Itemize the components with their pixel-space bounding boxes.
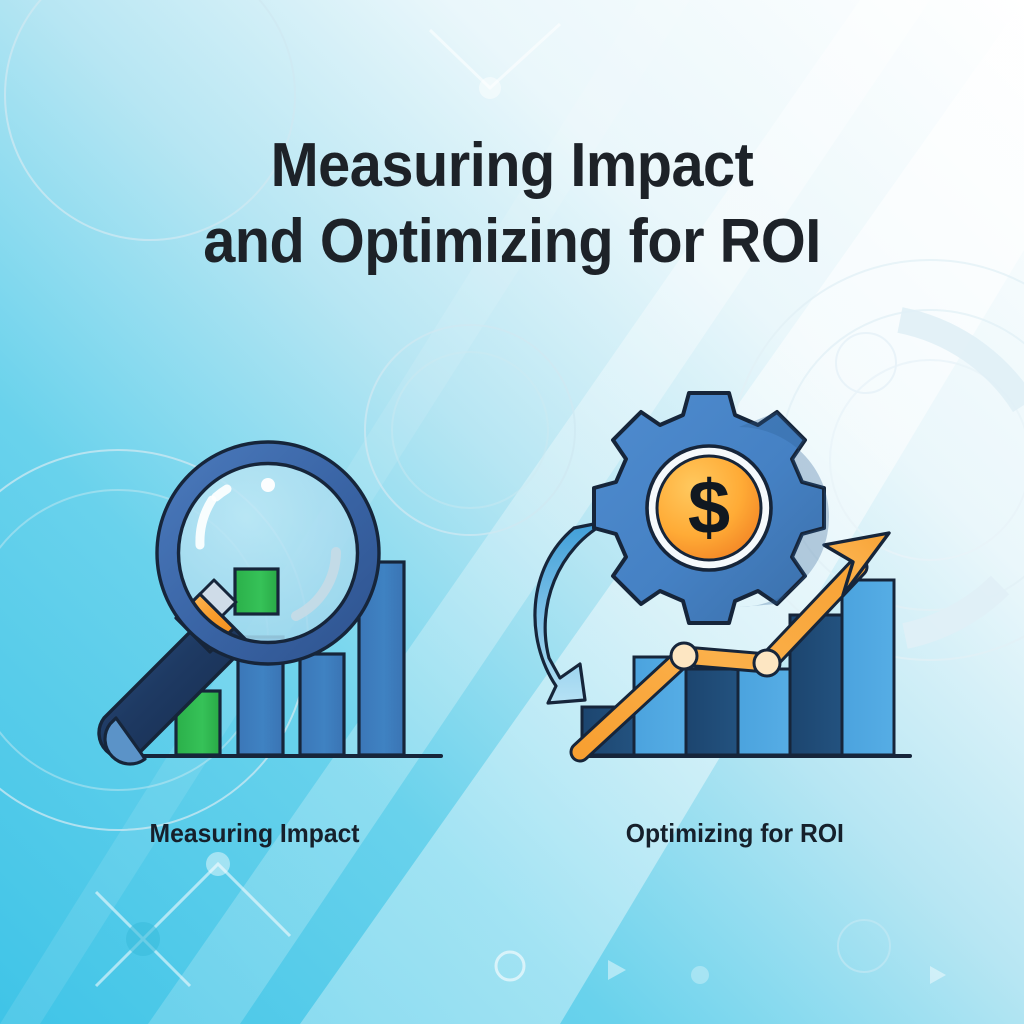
caption-optimizing-for-roi: Optimizing for ROI [626,818,844,849]
dollar-sign-icon: $ [688,466,730,551]
roi-bar-3 [686,669,738,755]
caption-measuring-impact: Measuring Impact [150,818,360,849]
gear-dollar-icon: $ [594,393,829,623]
trend-marker-2 [754,650,780,676]
roi-bar-6 [842,580,894,755]
curved-arrow-icon [535,521,609,703]
roi-bar-4 [738,669,790,755]
infographic-poster: Measuring Impact and Optimizing for ROI [0,0,1024,1024]
trend-marker-1 [671,643,697,669]
optimizing-roi-illustration: $ [0,0,1024,1024]
